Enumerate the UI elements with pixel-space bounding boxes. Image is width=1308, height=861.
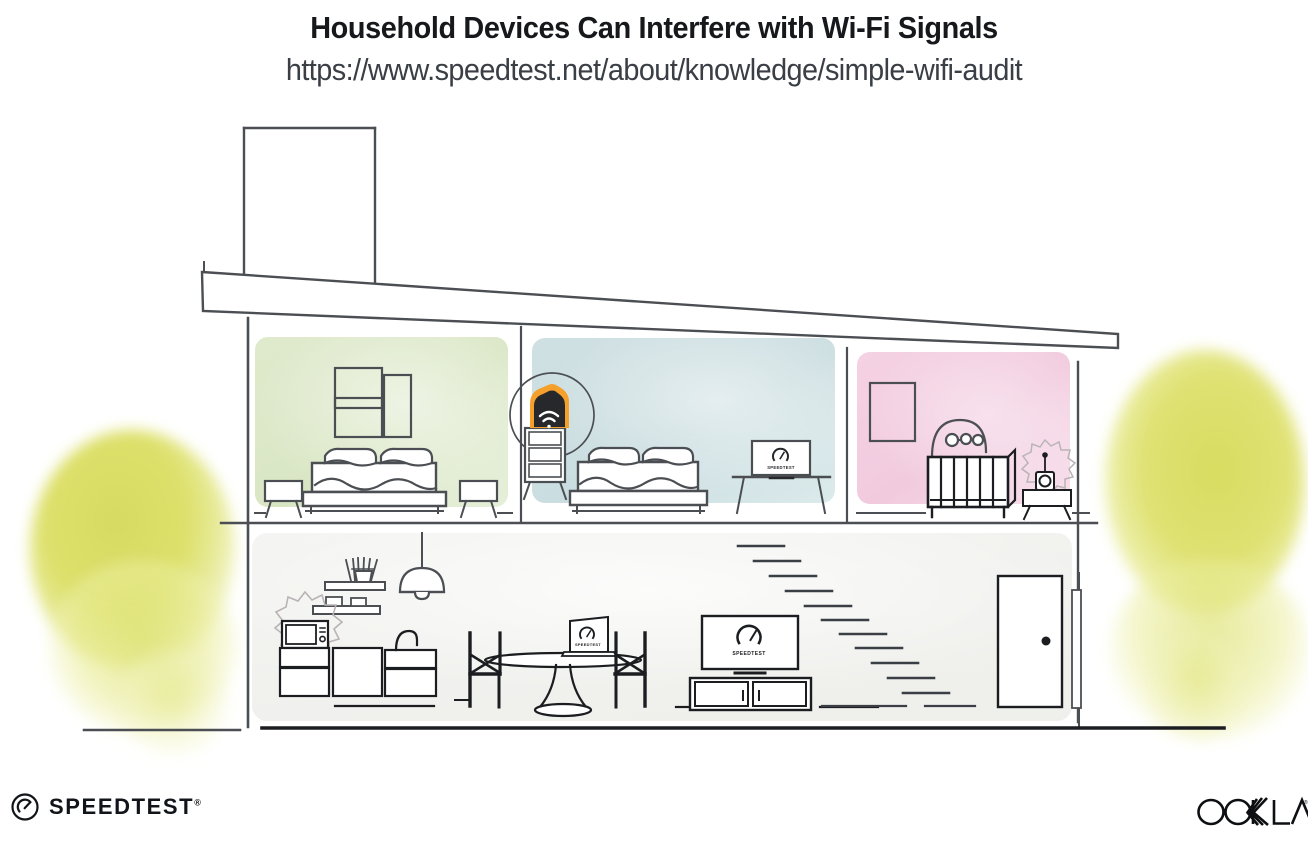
nightstand-left-green — [265, 481, 302, 517]
shelf-upper — [325, 582, 385, 590]
laptop-screen-label: SPEEDTEST — [575, 642, 601, 647]
monitor-screen-label: SPEEDTEST — [767, 465, 795, 470]
illustration-canvas: Household Devices Can Interfere with Wi-… — [0, 0, 1308, 861]
speedometer-icon-logo — [10, 792, 40, 822]
ookla-wordmark: ® — [1196, 792, 1308, 832]
roof-slab — [202, 262, 1118, 348]
television[interactable]: SPEEDTEST — [702, 616, 798, 673]
kitchen-cabinets — [280, 648, 436, 696]
speedtest-wordmark: SPEEDTEST® — [49, 794, 201, 820]
media-console — [690, 678, 811, 710]
ground-lines — [84, 728, 1224, 730]
bed-blue — [570, 462, 707, 513]
chimney — [244, 128, 375, 282]
bed-green — [303, 463, 446, 513]
footer: SPEEDTEST® ® — [0, 790, 1308, 850]
ookla-logo[interactable]: ® — [1196, 792, 1308, 837]
door-knob[interactable] — [1042, 637, 1051, 646]
tv-screen-label: SPEEDTEST — [732, 651, 765, 657]
shelf-lower — [313, 606, 380, 614]
speedtest-logo[interactable]: SPEEDTEST® — [10, 792, 201, 822]
front-door[interactable] — [998, 576, 1062, 707]
ookla-trademark: ® — [1304, 799, 1308, 806]
crib — [928, 450, 1015, 517]
nightstand-right-green — [460, 481, 497, 517]
house-cutaway-illustration: SPEEDTEST — [0, 0, 1308, 861]
speedtest-trademark: ® — [194, 798, 201, 808]
exterior-post — [1072, 573, 1081, 727]
monitor[interactable]: SPEEDTEST — [752, 441, 810, 478]
laptop[interactable]: SPEEDTEST — [562, 617, 616, 656]
microwave — [282, 621, 328, 648]
